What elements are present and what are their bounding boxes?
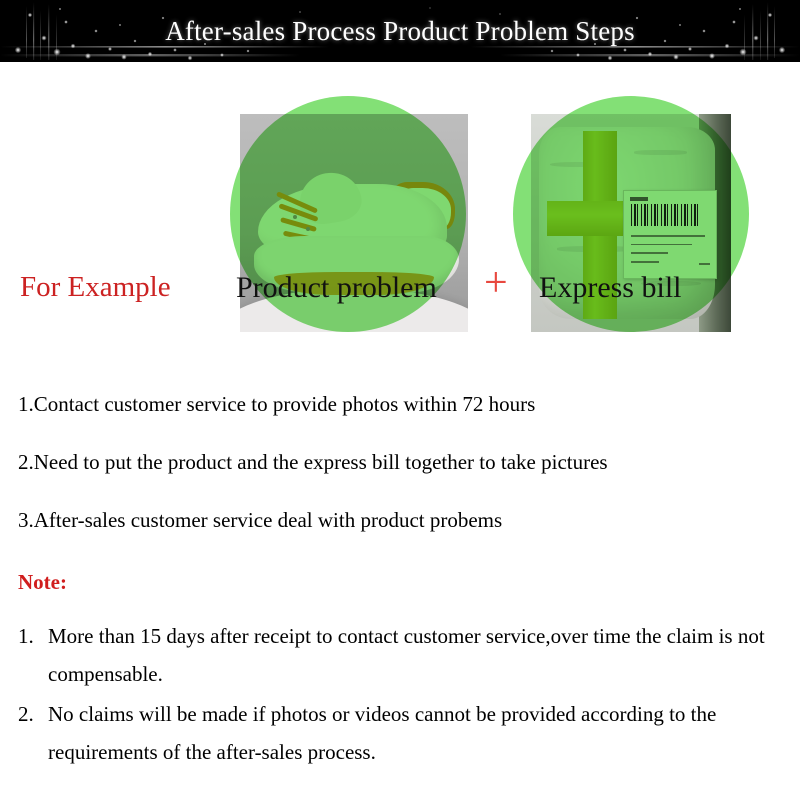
note-item-2: 2. No claims will be made if photos or v… (18, 695, 790, 771)
step-item-2: 2.Need to put the product and the expres… (18, 450, 788, 474)
note-item-2-number: 2. (18, 695, 34, 733)
note-heading: Note: (18, 570, 67, 595)
step-item-3: 3.After-sales customer service deal with… (18, 508, 788, 532)
note-item-1: 1. More than 15 days after receipt to co… (18, 617, 790, 693)
note-list: 1. More than 15 days after receipt to co… (18, 617, 790, 773)
label-header-block (630, 197, 648, 201)
note-item-1-number: 1. (18, 617, 34, 655)
product-problem-caption: Product problem (236, 271, 437, 305)
express-bill-caption: Express bill (539, 271, 682, 305)
barcode-icon (631, 204, 699, 227)
plus-icon: + (484, 262, 508, 304)
for-example-label: For Example (20, 271, 171, 304)
example-section: For Example (0, 62, 800, 362)
header-banner: After-sales Process Product Problem Step… (0, 0, 800, 62)
shipping-label (623, 190, 717, 279)
note-item-1-text: More than 15 days after receipt to conta… (48, 624, 765, 686)
note-item-2-text: No claims will be made if photos or vide… (48, 702, 716, 764)
page-title: After-sales Process Product Problem Step… (0, 0, 800, 62)
step-item-1: 1.Contact customer service to provide ph… (18, 392, 788, 416)
steps-list: 1.Contact customer service to provide ph… (18, 392, 788, 566)
